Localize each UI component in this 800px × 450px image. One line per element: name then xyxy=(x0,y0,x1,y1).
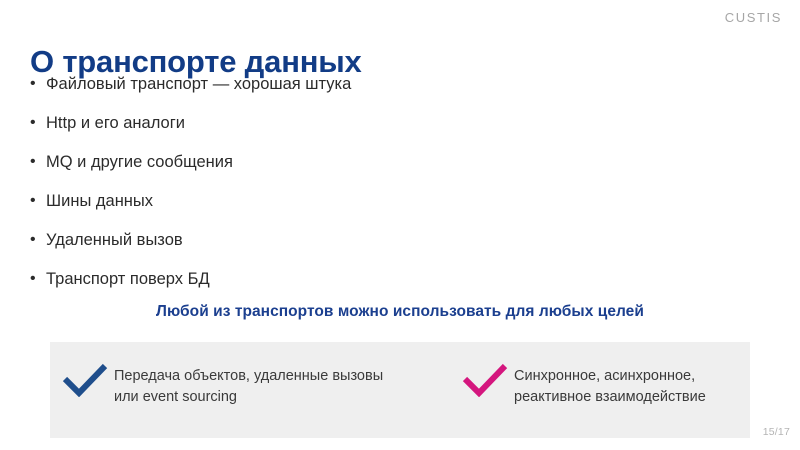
list-item: • Удаленный вызов xyxy=(30,230,650,269)
callout-line-2: реактивное взаимодействие xyxy=(514,387,750,408)
callout-line-1: Синхронное, асинхронное, xyxy=(514,366,750,387)
list-item: • Файловый транспорт — хорошая штука xyxy=(30,74,650,113)
emphasis-statement: Любой из транспортов можно использовать … xyxy=(0,303,800,321)
callout-text: Синхронное, асинхронное, реактивное взаи… xyxy=(514,363,750,407)
callout-text: Передача объектов, удаленные вызовы или … xyxy=(114,363,450,407)
list-item-label: Файловый транспорт — хорошая штука xyxy=(46,74,650,95)
list-item-label: Удаленный вызов xyxy=(46,230,650,251)
callout-panel: Передача объектов, удаленные вызовы или … xyxy=(50,342,750,438)
list-item: • Шины данных xyxy=(30,191,650,230)
bullet-dot-icon: • xyxy=(30,113,46,133)
bullet-dot-icon: • xyxy=(30,152,46,172)
list-item-label: Шины данных xyxy=(46,191,650,212)
list-item-label: Транспорт поверх БД xyxy=(46,269,650,290)
bullet-list: • Файловый транспорт — хорошая штука • H… xyxy=(30,74,650,308)
bullet-dot-icon: • xyxy=(30,269,46,289)
check-icon-magenta xyxy=(462,363,508,397)
bullet-dot-icon: • xyxy=(30,74,46,94)
list-item: • MQ и другие сообщения xyxy=(30,152,650,191)
list-item: • Http и его аналоги xyxy=(30,113,650,152)
check-icon-blue xyxy=(62,363,108,397)
list-item-label: MQ и другие сообщения xyxy=(46,152,650,173)
custis-logo: CUSTIS xyxy=(725,11,782,24)
page-number: 15/17 xyxy=(763,426,790,438)
callout-line-2: или event sourcing xyxy=(114,387,450,408)
bullet-dot-icon: • xyxy=(30,191,46,211)
callout-item-interaction: Синхронное, асинхронное, реактивное взаи… xyxy=(450,342,750,407)
callout-item-transport: Передача объектов, удаленные вызовы или … xyxy=(50,342,450,407)
bullet-dot-icon: • xyxy=(30,230,46,250)
list-item-label: Http и его аналоги xyxy=(46,113,650,134)
callout-line-1: Передача объектов, удаленные вызовы xyxy=(114,366,450,387)
presentation-slide: CUSTIS О транспорте данных • Файловый тр… xyxy=(0,0,800,450)
